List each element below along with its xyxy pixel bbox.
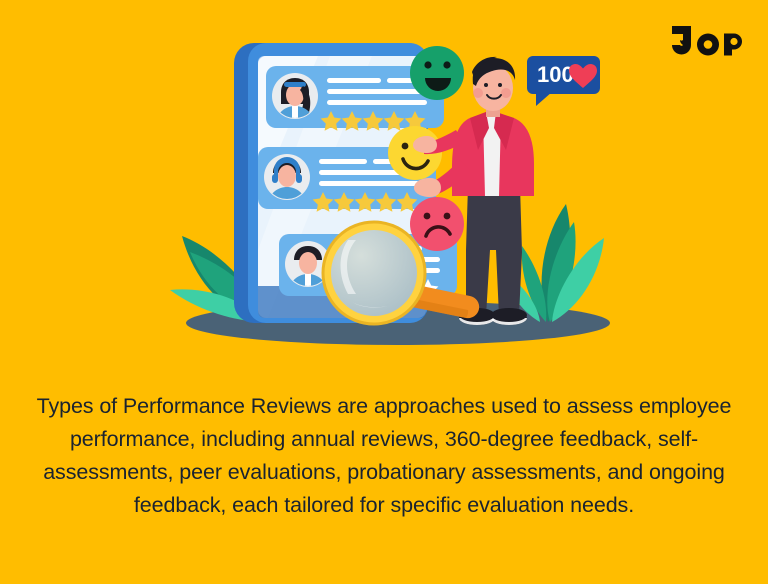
illustration-svg: 100	[0, 0, 768, 350]
emoji-sad-pink-icon	[410, 197, 464, 251]
score-badge[interactable]: 100	[527, 56, 600, 106]
poster-root: 100	[0, 0, 768, 584]
illustration: 100	[0, 0, 768, 350]
emoji-happy-green-icon	[410, 46, 464, 100]
score-badge-value: 100	[537, 62, 574, 87]
caption-text: Types of Performance Reviews are approac…	[34, 390, 734, 522]
